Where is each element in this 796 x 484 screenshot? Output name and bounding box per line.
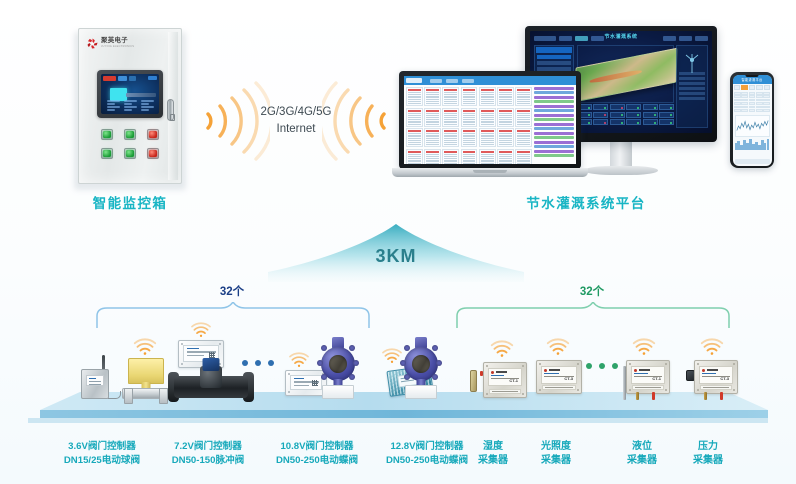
wireless-gateway[interactable]	[78, 355, 112, 399]
collector-subplate	[489, 389, 521, 394]
juying-flower-logo-icon	[87, 38, 98, 49]
indicator-6[interactable]	[147, 148, 159, 159]
phone-bar-chart	[735, 138, 770, 150]
label-line1: 光照度	[524, 440, 588, 454]
hmi-pipeline-graphic	[126, 93, 156, 97]
signal-wave-right-icon	[322, 80, 394, 162]
ellipsis-left	[242, 360, 274, 366]
device-card[interactable]	[424, 108, 441, 127]
collector-subplate	[632, 385, 664, 390]
device-card[interactable]	[461, 87, 478, 106]
label-line2: 采集器	[468, 454, 518, 468]
ball-valve-pipe	[122, 388, 170, 399]
label-valve-3-6v: 3.6V阀门控制器 DN15/25电动球阀	[42, 440, 162, 467]
device-card[interactable]	[515, 149, 532, 164]
indicator-1[interactable]	[101, 129, 113, 140]
cabinet-door-handle[interactable]	[167, 99, 174, 121]
wifi-signal-icon	[700, 338, 724, 356]
device-card[interactable]	[424, 128, 441, 147]
hmi-screen	[101, 74, 159, 114]
brand-logo: 聚英电子 JUYING ELECTRONICS	[87, 38, 134, 49]
smart-control-cabinet[interactable]: 聚英电子 JUYING ELECTRONICS	[78, 28, 182, 186]
label-line1: 湿度	[468, 440, 518, 454]
phone-trend-chart	[735, 115, 770, 137]
label-pressure-collector: 压力 采集器	[681, 440, 735, 468]
ellipsis-right	[586, 363, 618, 369]
device-tile[interactable]	[610, 119, 625, 125]
device-card[interactable]	[406, 128, 423, 147]
device-card[interactable]	[406, 149, 423, 164]
label-line1: 10.8V阀门控制器	[256, 440, 378, 454]
phone-footer-bar[interactable]	[735, 159, 770, 164]
device-card[interactable]	[406, 87, 423, 106]
collector-red-terminal	[720, 392, 723, 400]
collector-red-terminal	[652, 392, 655, 400]
device-status-list	[534, 85, 576, 159]
device-card[interactable]	[424, 149, 441, 164]
control-cabinet-caption: 智能监控箱	[0, 192, 260, 212]
coverage-range-funnel: 3KM	[268, 222, 524, 282]
wifi-signal-icon	[288, 352, 310, 368]
laptop[interactable]	[392, 71, 588, 187]
indicator-3[interactable]	[147, 129, 159, 140]
coverage-range-label: 3KM	[268, 246, 524, 267]
illuminance-collector[interactable]: CT-3	[536, 360, 582, 394]
device-card[interactable]	[515, 128, 532, 147]
device-card[interactable]	[461, 108, 478, 127]
farm-3d-model	[574, 48, 677, 103]
device-card[interactable]	[479, 149, 496, 164]
brand-name-en: JUYING ELECTRONICS	[101, 46, 134, 49]
device-tile[interactable]	[659, 104, 674, 110]
label-humidity-collector: 湿度 采集器	[468, 440, 518, 468]
app-tabs[interactable]	[430, 79, 474, 83]
butterfly-valve-base	[405, 385, 437, 399]
label-line1: 3.6V阀门控制器	[42, 440, 162, 454]
collector-subplate	[700, 385, 732, 390]
cabinet-body: 聚英电子 JUYING ELECTRONICS	[78, 28, 182, 184]
wifi-signal-icon	[190, 322, 212, 338]
device-tile[interactable]	[643, 104, 658, 110]
app-logo	[406, 78, 422, 83]
collector-nameplate: CT-1	[631, 366, 665, 384]
dashboard-device-tiles	[577, 104, 674, 129]
collector-model: CT-1	[652, 376, 661, 381]
liquid-level-collector[interactable]: CT-1	[626, 360, 670, 394]
hmi-status-badge	[148, 76, 157, 80]
device-card[interactable]	[497, 87, 514, 106]
device-card-grid	[404, 85, 534, 159]
laptop-lid	[399, 71, 581, 169]
dashboard-side-panel[interactable]	[676, 45, 708, 128]
device-tile[interactable]	[643, 112, 658, 118]
device-tile[interactable]	[593, 119, 608, 125]
smartphone[interactable]: 智能灌溉平台	[730, 72, 774, 168]
laptop-app-body	[404, 85, 576, 159]
label-line2: 采集器	[615, 454, 669, 468]
humidity-probe	[470, 370, 477, 392]
device-card[interactable]	[515, 87, 532, 106]
collector-nameplate: CT-3	[541, 366, 577, 384]
device-tile[interactable]	[626, 104, 641, 110]
brand-name-cn: 聚英电子	[101, 38, 134, 45]
label-liquid-level-collector: 液位 采集器	[615, 440, 669, 468]
device-tile[interactable]	[659, 119, 674, 125]
device-card[interactable]	[442, 87, 459, 106]
label-line2: DN15/25电动球阀	[42, 454, 162, 468]
device-tile[interactable]	[626, 119, 641, 125]
collector-brass-fitting	[636, 392, 639, 400]
laptop-trackpad-notch	[473, 170, 507, 173]
device-card[interactable]	[424, 87, 441, 106]
device-card[interactable]	[479, 108, 496, 127]
butterfly-valve-base	[322, 385, 354, 399]
device-card[interactable]	[497, 108, 514, 127]
indicator-button-grid	[101, 129, 161, 159]
device-tile[interactable]	[593, 112, 608, 118]
device-card[interactable]	[442, 149, 459, 164]
phone-data-table	[733, 91, 772, 113]
phone-screen: 智能灌溉平台	[733, 75, 772, 166]
gateway-body	[81, 369, 109, 399]
label-illuminance-collector: 光照度 采集器	[524, 440, 588, 468]
cellular-link-group: 2G/3G/4G/5G Internet	[198, 80, 394, 162]
label-line1: 7.2V阀门控制器	[148, 440, 268, 454]
hmi-tank-graphic	[110, 88, 127, 101]
valve-solenoid-actuator	[203, 358, 220, 371]
collector-model: CT-1	[509, 378, 518, 383]
laptop-screen	[404, 76, 576, 164]
collector-subplate	[542, 385, 576, 390]
wifi-signal-icon	[632, 338, 656, 356]
phone-body: 智能灌溉平台	[730, 72, 774, 168]
phone-app-title: 智能灌溉平台	[742, 77, 763, 82]
collector-brass-fitting	[704, 392, 707, 400]
collector-nameplate: CT-3	[699, 366, 733, 384]
platform-caption: 节水灌溉系统平台	[436, 192, 736, 212]
device-card[interactable]	[479, 87, 496, 106]
device-card[interactable]	[497, 149, 514, 164]
electric-butterfly-valve-12-8v[interactable]	[398, 337, 444, 399]
device-tile[interactable]	[659, 112, 674, 118]
collector-housing: CT-1	[483, 362, 527, 398]
device-tile[interactable]	[643, 119, 658, 125]
dashboard-3d-view[interactable]	[577, 45, 674, 103]
collector-housing: CT-1	[626, 360, 670, 394]
device-card[interactable]	[442, 108, 459, 127]
system-architecture-diagram: 聚英电子 JUYING ELECTRONICS	[0, 0, 796, 484]
sprinkler-diagram-icon	[683, 52, 701, 74]
device-tile[interactable]	[610, 104, 625, 110]
dashboard-title: 节水灌溉系统	[530, 33, 712, 40]
device-tile[interactable]	[610, 112, 625, 118]
device-card[interactable]	[497, 128, 514, 147]
collector-model: CT-3	[720, 376, 729, 381]
gateway-nameplate	[86, 375, 104, 386]
label-valve-10-8v: 10.8V阀门控制器 DN50-250电动蝶阀	[256, 440, 378, 467]
electric-butterfly-valve-10-8v[interactable]	[315, 337, 361, 399]
label-line1: 压力	[681, 440, 735, 454]
device-tile[interactable]	[626, 112, 641, 118]
valve-group-bracket	[95, 302, 371, 328]
cloud-platform-devices: 节水灌溉系统	[392, 26, 774, 194]
device-card[interactable]	[442, 128, 459, 147]
pressure-collector[interactable]: CT-3	[694, 360, 738, 394]
label-line2: 采集器	[524, 454, 588, 468]
device-card[interactable]	[406, 108, 423, 127]
monitor-stand-neck	[610, 142, 632, 168]
collector-model: CT-3	[564, 376, 573, 381]
label-line1: 液位	[615, 440, 669, 454]
device-card[interactable]	[461, 128, 478, 147]
label-valve-7-2v: 7.2V阀门控制器 DN50-150脉冲阀	[148, 440, 268, 467]
phone-tab-bar[interactable]	[733, 84, 772, 92]
wifi-signal-icon	[490, 340, 514, 358]
monitor-stand-base	[584, 166, 658, 175]
collector-housing: CT-3	[536, 360, 582, 394]
hmi-touch-panel[interactable]	[97, 70, 163, 118]
indicator-4[interactable]	[101, 148, 113, 159]
valve-group-count: 32个	[212, 283, 252, 299]
indicator-5[interactable]	[124, 148, 136, 159]
indicator-2[interactable]	[124, 129, 136, 140]
label-line2: 采集器	[681, 454, 735, 468]
collector-housing: CT-3	[694, 360, 738, 394]
collector-nameplate: CT-1	[488, 368, 522, 386]
label-line2: DN50-250电动蝶阀	[256, 454, 378, 468]
sensor-group-bracket	[455, 302, 731, 328]
ball-valve-actuator	[128, 358, 164, 384]
device-card[interactable]	[461, 149, 478, 164]
device-card[interactable]	[479, 128, 496, 147]
wifi-signal-icon	[546, 338, 570, 356]
label-line2: DN50-150脉冲阀	[148, 454, 268, 468]
device-card[interactable]	[515, 108, 532, 127]
laptop-app-header	[404, 76, 576, 85]
device-tile[interactable]	[593, 104, 608, 110]
humidity-collector[interactable]: CT-1	[483, 362, 527, 398]
hmi-data-grid	[107, 100, 154, 111]
electric-ball-valve-dn15-25[interactable]	[120, 338, 172, 400]
sensor-group-count: 32个	[572, 283, 612, 299]
